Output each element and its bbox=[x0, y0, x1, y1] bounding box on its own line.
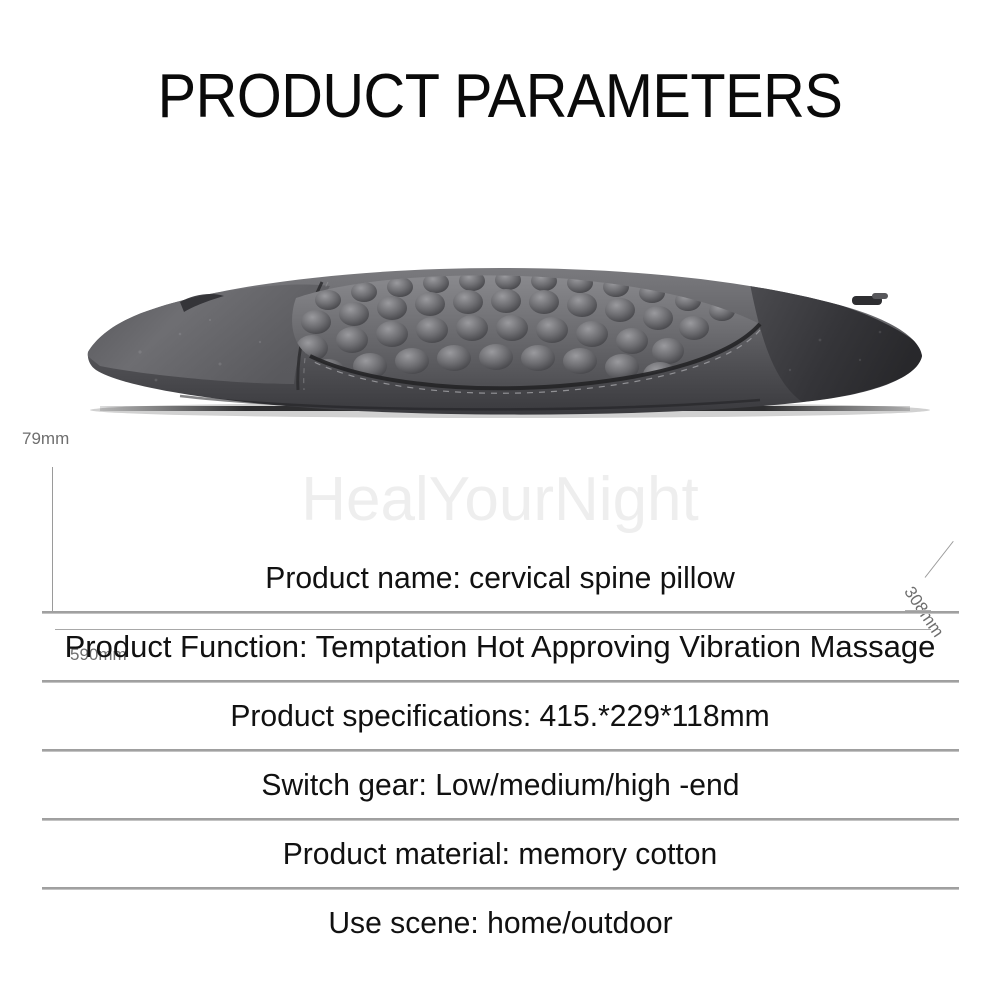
spec-row-product-material: Product material: memory cotton bbox=[0, 821, 1000, 887]
spec-text: Product Function: Temptation Hot Approvi… bbox=[65, 628, 936, 666]
spec-table: Product name: cervical spine pillow Prod… bbox=[0, 545, 1000, 956]
spec-text: Use scene: home/outdoor bbox=[328, 904, 672, 942]
dimension-label-height: 79mm bbox=[22, 429, 69, 449]
spec-text: Product material: memory cotton bbox=[283, 835, 718, 873]
watermark: HealYourNight bbox=[0, 462, 1000, 538]
zipper-detail bbox=[852, 293, 888, 305]
page-title: PRODUCT PARAMETERS bbox=[35, 62, 965, 132]
spec-text: Switch gear: Low/medium/high -end bbox=[261, 766, 739, 804]
product-figure: 79mm 590mm 308mm bbox=[0, 205, 1000, 475]
spec-text: Product specifications: 415.*229*118mm bbox=[230, 697, 769, 735]
product-image-pillow bbox=[60, 260, 940, 420]
spec-row-product-name: Product name: cervical spine pillow bbox=[0, 545, 1000, 611]
spec-row-product-function: Product Function: Temptation Hot Approvi… bbox=[0, 614, 1000, 680]
spec-row-switch-gear: Switch gear: Low/medium/high -end bbox=[0, 752, 1000, 818]
spec-row-use-scene: Use scene: home/outdoor bbox=[0, 890, 1000, 956]
spec-row-product-specifications: Product specifications: 415.*229*118mm bbox=[0, 683, 1000, 749]
spec-text: Product name: cervical spine pillow bbox=[265, 559, 735, 597]
